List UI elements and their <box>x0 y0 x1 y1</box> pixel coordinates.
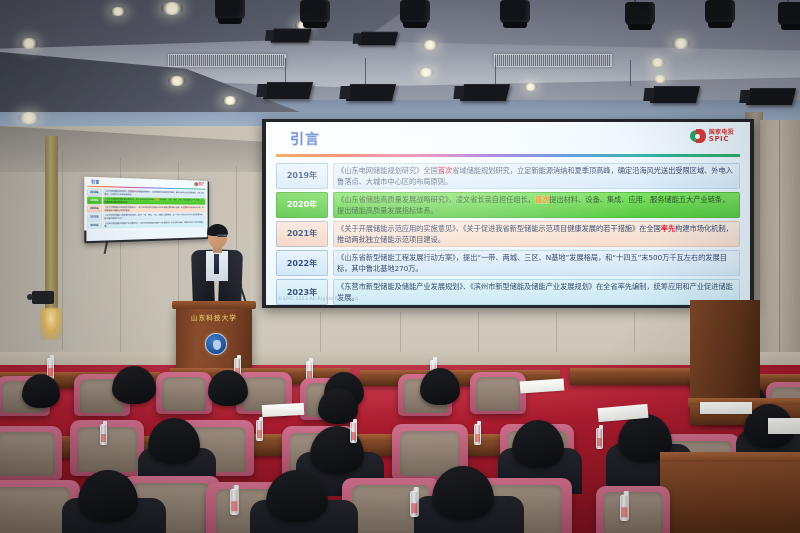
air-vent <box>168 54 286 67</box>
wall-seam <box>62 150 63 350</box>
spic-mark-icon <box>690 129 706 143</box>
projection-screen: 引言 国家电投 SPIC 2019年《山东电网储能规划研究》全国首次省域储能规划… <box>262 119 754 308</box>
slide-accent-rule <box>276 154 740 157</box>
ceiling-downlight <box>524 83 537 91</box>
water-bottle <box>620 495 629 521</box>
stage-spotlight <box>500 0 530 24</box>
lectern-inscription: 山东科技大学 <box>178 312 250 322</box>
ceiling-speaker <box>358 32 398 46</box>
auditorium-seat <box>0 426 62 480</box>
ceiling-downlight <box>672 38 690 49</box>
speaker-wire <box>285 58 286 82</box>
ceiling-downlight <box>418 68 434 77</box>
wall-pilaster <box>45 136 58 316</box>
water-bottle <box>100 424 107 445</box>
timeline-row-text: 《山东省储能高质量发展战略研究》，凌文省长亲自担任组长，首次提出材料、设备、集成… <box>103 197 205 205</box>
slide-timeline-row: 2020年《山东省储能高质量发展战略研究》，凌文省长亲自担任组长，首次提出材料、… <box>276 192 740 219</box>
auditorium-seat <box>70 420 144 476</box>
presenter <box>188 226 244 308</box>
mirror-spic-logo: 国家电投 SPIC <box>194 182 205 186</box>
slide-timeline-row: 2021年《关于开展储能示范应用的实施意见》、《关于促进我省新型储能示范项目健康… <box>276 221 740 248</box>
timeline-row-text: 《关于开展储能示范应用的实施意见》、《关于促进我省新型储能示范项目健康发展的若干… <box>333 221 740 248</box>
notebook-page <box>768 418 800 434</box>
slide-timeline-rows: 2019年《山东电网储能规划研究》全国首次省域储能规划研究，立足新能源消纳和夏季… <box>276 163 740 306</box>
timeline-year-label: 2023年 <box>87 221 102 229</box>
lectern-top <box>172 301 256 309</box>
water-bottle <box>596 428 603 449</box>
wall-pillar-right <box>760 120 800 370</box>
slide-timeline-row: 2022年《山东省新型储能工程发展行动方案》，提出“一带、两城、三区、N基地”发… <box>276 250 740 277</box>
ceiling-downlight <box>18 112 40 124</box>
presenter-tie <box>214 254 219 274</box>
timeline-year-label: 2022年 <box>276 250 328 277</box>
ceiling-downlight <box>20 38 38 49</box>
timeline-row-text: 《山东电网储能规划研究》全国首次省域储能规划研究，立足新能源消纳和夏季顶高峰，确… <box>333 163 740 190</box>
timeline-year-label: 2021年 <box>276 221 328 248</box>
spic-logo-en: SPIC <box>709 136 734 143</box>
mirror-slide-title: 引言 <box>87 179 99 185</box>
ceiling-speaker <box>263 82 313 99</box>
ceiling-downlight <box>422 40 438 50</box>
ceiling-speaker <box>460 84 510 101</box>
water-bottle <box>474 424 481 445</box>
slide-title: 引言 <box>276 129 320 149</box>
ceiling-downlight <box>653 75 667 83</box>
audience-desk <box>660 462 800 533</box>
timeline-row-text: 《山东省新型储能工程发展行动方案》，提出“一带、两城、三区、N基地”发展格局，和… <box>333 250 740 277</box>
timeline-year-label: 2020年 <box>276 192 328 219</box>
slide-timeline-row: 2020年《山东省储能高质量发展战略研究》，凌文省长亲自担任组长，首次提出材料、… <box>87 197 205 205</box>
auditorium-seat <box>596 486 670 533</box>
timeline-year-label: 2021年 <box>87 205 102 213</box>
audience-head <box>208 370 248 406</box>
timeline-year-label: 2019年 <box>87 188 102 196</box>
water-bottle <box>350 422 357 443</box>
stage-spotlight <box>778 2 800 26</box>
stage-spotlight <box>625 2 655 26</box>
slide-timeline-row: 2019年《山东电网储能规划研究》全国首次省域储能规划研究，立足新能源消纳和夏季… <box>276 163 740 190</box>
ceiling-downlight <box>161 2 183 15</box>
slide-copyright: ©SPIC 2023 All Rights Reserved <box>278 297 358 302</box>
timeline-year-label: 2020年 <box>87 197 102 205</box>
speaker-wire <box>365 58 366 84</box>
projection-screen-surface: 引言 国家电投 SPIC 2019年《山东电网储能规划研究》全国首次省域储能规划… <box>266 122 750 305</box>
ceiling-downlight <box>110 7 126 16</box>
water-bottle <box>230 489 239 515</box>
timeline-year-label: 2019年 <box>276 163 328 190</box>
speaker-wire <box>495 58 496 84</box>
timeline-year-label: 2022年 <box>87 213 102 221</box>
mirror-logo-en: SPIC <box>199 184 205 186</box>
presentation-slide: 引言 国家电投 SPIC 2019年《山东电网储能规划研究》全国首次省域储能规划… <box>266 122 750 305</box>
conference-hall-scene: 引言 国家电投 SPIC 2019年《山东电网储能规划研究》全国首次省域储能规划… <box>0 0 800 533</box>
ceiling-speaker <box>346 84 396 101</box>
mirror-slide-rows: 2019年《山东电网储能规划研究》全国首次省域储能规划研究，立足新能源消纳和夏季… <box>87 188 205 229</box>
presenter-glasses <box>217 234 227 237</box>
water-bottle <box>256 420 263 441</box>
wall-seam <box>779 120 780 370</box>
audience-head <box>318 388 358 424</box>
notebook-page <box>262 403 305 417</box>
notebook-page <box>700 402 752 414</box>
wall-sconce-light <box>40 308 62 340</box>
timeline-row-text: 《关于开展储能示范应用的实施意见》、《关于促进我省新型储能示范项目健康发展的若干… <box>103 205 205 212</box>
auditorium-seat <box>156 372 212 414</box>
ceiling-speaker <box>270 29 311 43</box>
wall-camera <box>32 291 54 304</box>
slide-timeline-row: 2021年《关于开展储能示范应用的实施意见》、《关于促进我省新型储能示范项目健康… <box>87 205 205 213</box>
stage-spotlight <box>300 0 330 24</box>
water-bottle <box>410 491 419 517</box>
timeline-row-text: 《东营市新型储能及储能产业发展规划》、《滨州市新型储能及储能产业发展规划》在全省… <box>333 279 740 305</box>
spic-logo-text: 国家电投 SPIC <box>709 130 734 143</box>
spic-mark-icon <box>194 182 198 186</box>
ceiling-speaker <box>746 88 796 105</box>
spic-logo: 国家电投 SPIC <box>690 129 740 143</box>
audience-desk-top <box>360 370 560 376</box>
ceiling-speaker <box>650 86 700 103</box>
ceiling-downlight <box>168 76 186 86</box>
stage-spotlight <box>705 0 735 24</box>
university-emblem <box>205 333 227 355</box>
slide-header: 引言 国家电投 SPIC <box>276 129 740 153</box>
timeline-row-text: 《山东省储能高质量发展战略研究》，凌文省长亲自担任组长，首次提出材料、设备、集成… <box>333 192 740 219</box>
stage-spotlight <box>400 0 430 24</box>
ceiling-downlight <box>222 96 238 105</box>
auditorium-seat <box>470 372 526 414</box>
stage-spotlight <box>215 0 245 20</box>
air-vent <box>494 54 612 67</box>
audience-head <box>22 374 60 408</box>
ceiling-downlight <box>650 58 665 67</box>
speaker-wire <box>630 60 631 86</box>
audience-desk-top <box>570 368 690 374</box>
